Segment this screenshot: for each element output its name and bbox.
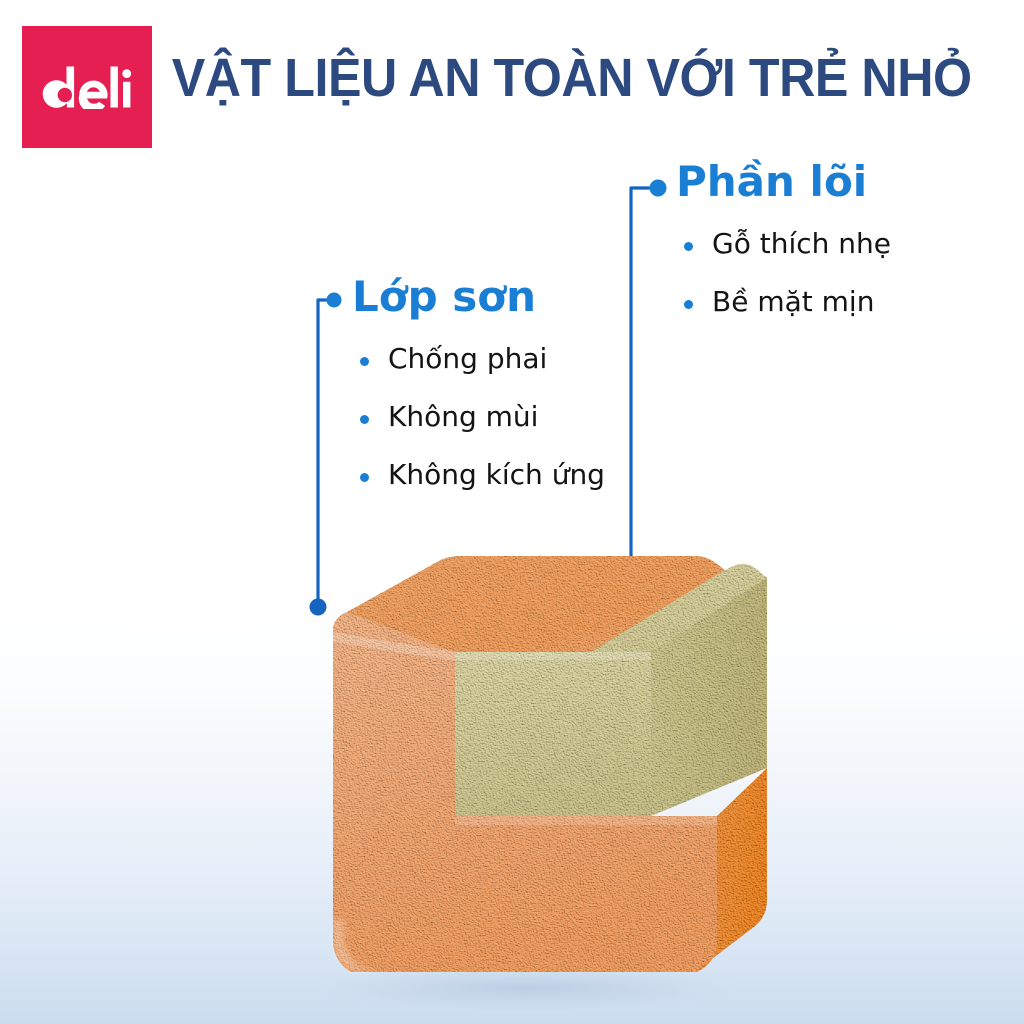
leader-dot-coat-label <box>327 293 342 308</box>
callout-paint-coat: Lớp sơn Chống phai Không mùi Không kích … <box>352 275 605 519</box>
core-edge-highlight <box>455 652 651 660</box>
cube-body <box>333 556 767 972</box>
list-item: Không mùi <box>352 403 605 431</box>
cube-core-front-face <box>455 652 651 816</box>
callout-bullet-list-coat: Chống phai Không mùi Không kích ứng <box>352 345 605 489</box>
deli-wordmark-icon <box>35 65 139 109</box>
deli-logo <box>22 26 152 148</box>
cutaway-wooden-cube-illustration <box>255 520 775 1010</box>
page-title: VẬT LIỆU AN TOÀN VỚI TRẺ NHỎ <box>195 42 948 114</box>
infographic-canvas: VẬT LIỆU AN TOÀN VỚI TRẺ NHỎ Lớp sơn Chố… <box>0 0 1024 1024</box>
list-item: Chống phai <box>352 345 605 373</box>
callout-wooden-core: Phần lõi Gỗ thích nhẹ Bề mặt mịn <box>676 160 891 346</box>
leader-dot-core-label <box>650 180 667 197</box>
callout-bullet-list-core: Gỗ thích nhẹ Bề mặt mịn <box>676 230 891 316</box>
list-item: Không kích ứng <box>352 461 605 489</box>
callout-heading-core: Phần lõi <box>676 160 891 204</box>
list-item: Gỗ thích nhẹ <box>676 230 891 258</box>
list-item: Bề mặt mịn <box>676 288 891 316</box>
callout-heading-coat: Lớp sơn <box>352 275 605 319</box>
